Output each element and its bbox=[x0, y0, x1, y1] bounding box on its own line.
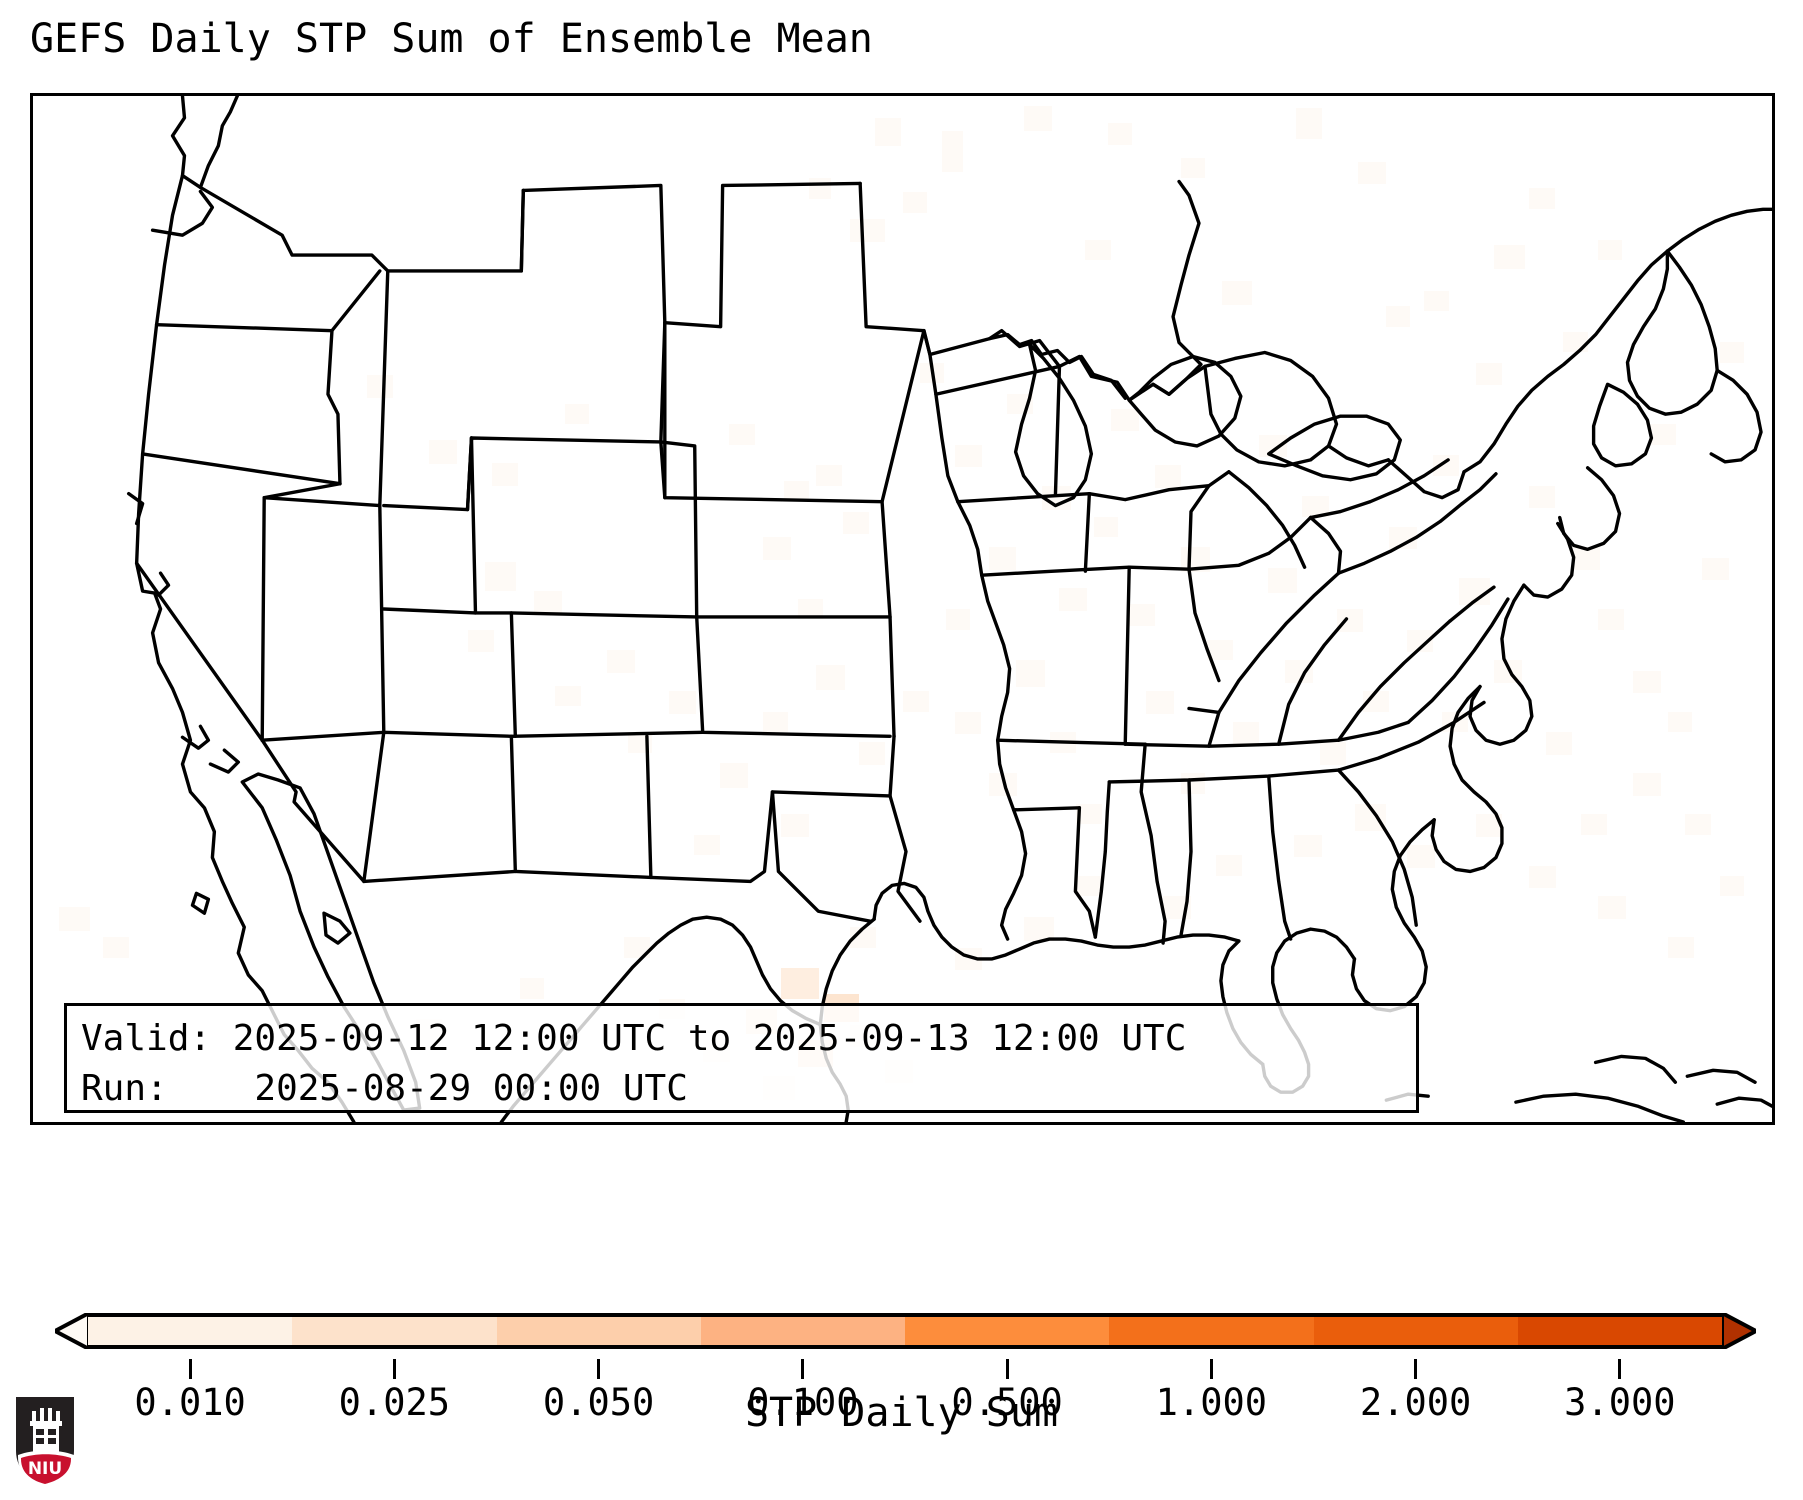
map-plot-area: Valid: 2025-09-12 12:00 UTC to 2025-09-1… bbox=[30, 93, 1775, 1125]
valid-line: Valid: 2025-09-12 12:00 UTC to 2025-09-1… bbox=[81, 1014, 1402, 1064]
colorbar-band-5 bbox=[1109, 1317, 1313, 1345]
colorbar-band-3 bbox=[701, 1317, 905, 1345]
colorbar-extend-max-arrow bbox=[1722, 1313, 1756, 1349]
colorbar-tick-6 bbox=[1414, 1359, 1417, 1379]
colorbar-tick-5 bbox=[1210, 1359, 1213, 1379]
colorbar-band-7 bbox=[1518, 1317, 1722, 1345]
colorbar-tick-4 bbox=[1006, 1359, 1009, 1379]
colorbar-ticks bbox=[55, 1359, 1755, 1381]
colorbar-tick-3 bbox=[801, 1359, 804, 1379]
colorbar-tick-1 bbox=[393, 1359, 396, 1379]
niu-logo-text: NIU bbox=[28, 1459, 62, 1479]
colorbar-tick-2 bbox=[597, 1359, 600, 1379]
valid-run-info-box: Valid: 2025-09-12 12:00 UTC to 2025-09-1… bbox=[64, 1003, 1419, 1113]
colorbar-tick-0 bbox=[189, 1359, 192, 1379]
colorbar-band-6 bbox=[1314, 1317, 1518, 1345]
colorbar-band-2 bbox=[497, 1317, 701, 1345]
colorbar-tick-7 bbox=[1618, 1359, 1621, 1379]
colorbar-extend-min-arrow bbox=[55, 1313, 89, 1349]
colorbar-band-0 bbox=[88, 1317, 292, 1345]
niu-logo-icon: NIU bbox=[14, 1395, 76, 1487]
colorbar: 0.0100.0250.0500.1000.5001.0002.0003.000 bbox=[55, 1303, 1755, 1363]
colorbar-band-4 bbox=[905, 1317, 1109, 1345]
page-title: GEFS Daily STP Sum of Ensemble Mean bbox=[30, 16, 873, 62]
colorbar-axis-title: STP Daily Sum bbox=[0, 1390, 1803, 1436]
colorbar-band-1 bbox=[292, 1317, 496, 1345]
map-geography bbox=[33, 96, 1772, 1122]
figure-root: GEFS Daily STP Sum of Ensemble Mean bbox=[0, 0, 1803, 1500]
run-line: Run: 2025-08-29 00:00 UTC bbox=[81, 1064, 1402, 1114]
colorbar-bands bbox=[88, 1313, 1722, 1349]
